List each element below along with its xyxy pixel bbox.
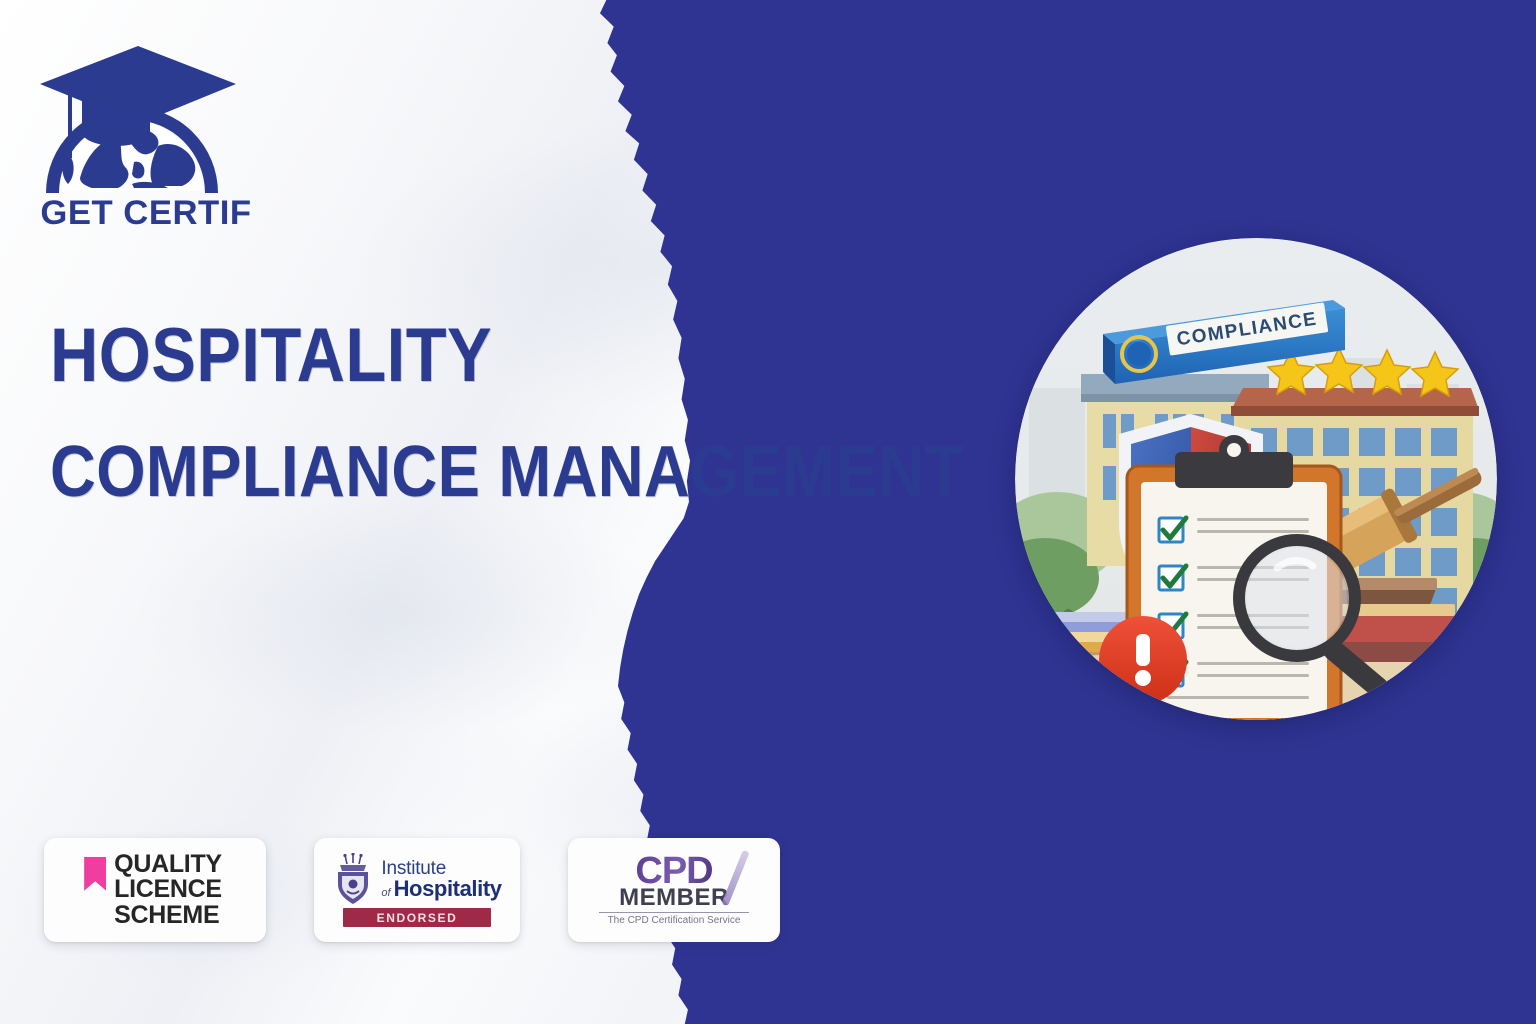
badge-cpd-divider [599, 912, 749, 913]
badge-ioh-of: of [381, 888, 390, 899]
badge-qls-line-1: QUALITY [114, 852, 222, 878]
brand-logo-text: GET CERTIFY [40, 194, 252, 228]
title-line-1: HOSPITALITY [50, 318, 772, 394]
badge-cpd-member-label: MEMBER [619, 886, 729, 910]
badge-qls-line-2: LICENCE [114, 877, 222, 903]
poster-canvas: GET CERTIFY HOSPITALITY COMPLIANCE MANAG… [0, 0, 1536, 1024]
graduation-cap-globe-icon [40, 46, 236, 193]
badge-cpd-subtitle: The CPD Certification Service [608, 915, 741, 927]
badge-cpd-member[interactable]: CPD MEMBER The CPD Certification Service [568, 838, 780, 942]
heraldic-crest-icon [332, 853, 374, 905]
badge-ioh-institute: Institute [381, 859, 501, 878]
badge-quality-licence-scheme[interactable]: QUALITY LICENCE SCHEME [44, 838, 266, 942]
page-title: HOSPITALITY COMPLIANCE MANAGEMENT [50, 318, 870, 508]
brand-logo[interactable]: GET CERTIFY [22, 28, 252, 228]
badge-ioh-endorsed-bar: ENDORSED [343, 908, 491, 927]
badge-qls-text: QUALITY LICENCE SCHEME [114, 852, 222, 929]
badge-institute-of-hospitality[interactable]: Institute of Hospitality ENDORSED [314, 838, 520, 942]
title-line-2: COMPLIANCE MANAGEMENT [50, 436, 772, 508]
accreditation-badge-row: QUALITY LICENCE SCHEME [44, 838, 780, 942]
hospitality-compliance-illustration: COMPLIANCE [1015, 238, 1497, 720]
badge-ioh-hospitality: Hospitality [394, 878, 502, 900]
cpd-slash-decor [721, 850, 749, 906]
badge-qls-line-3: SCHEME [114, 903, 222, 929]
bookmark-ribbon-icon [84, 857, 106, 891]
